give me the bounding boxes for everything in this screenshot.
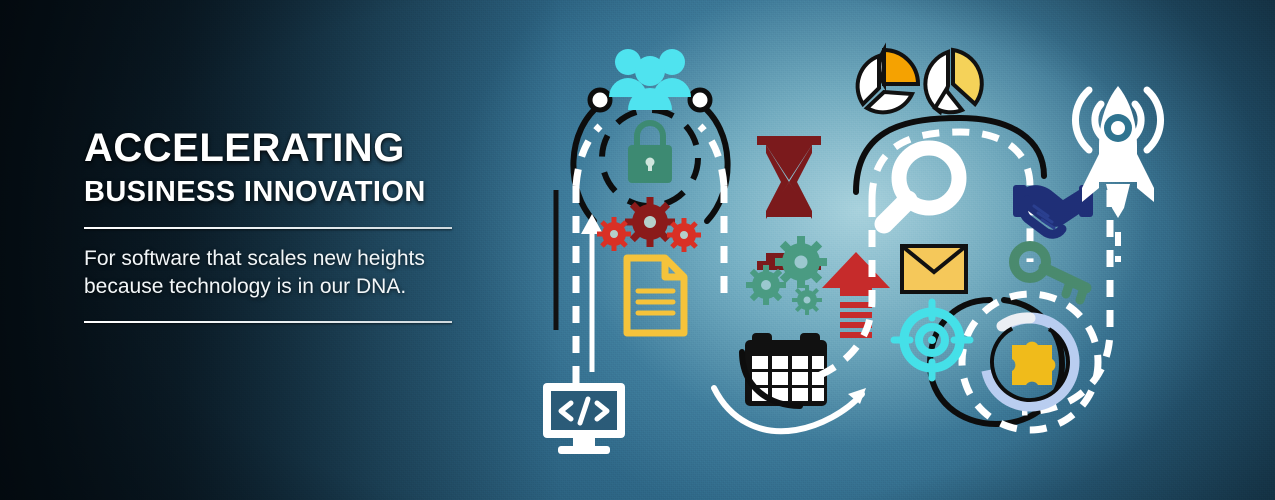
envelope-icon xyxy=(902,246,966,292)
target-icon xyxy=(894,302,970,378)
hero-text-block: ACCELERATING BUSINESS INNOVATION For sof… xyxy=(84,128,464,323)
document-icon xyxy=(627,258,684,333)
hero-banner: ACCELERATING BUSINESS INNOVATION For sof… xyxy=(0,0,1275,500)
pie-chart-yellow-icon xyxy=(925,50,981,112)
gears-green-icon xyxy=(746,236,827,315)
page-title: ACCELERATING xyxy=(84,128,464,168)
magnifier-icon xyxy=(884,148,959,224)
calendar-icon xyxy=(745,333,827,406)
pie-chart-orange-icon xyxy=(858,50,918,112)
node-dot-left xyxy=(590,90,610,110)
divider-bottom xyxy=(84,321,452,323)
rocket-icon xyxy=(1075,86,1160,262)
hero-description: For software that scales new heights bec… xyxy=(84,245,464,301)
divider-top xyxy=(84,227,452,229)
puzzle-piece-icon xyxy=(1012,342,1055,385)
people-group-icon xyxy=(609,49,691,110)
node-dot-right xyxy=(690,90,710,110)
gears-red-icon xyxy=(597,197,701,252)
page-subtitle: BUSINESS INNOVATION xyxy=(84,178,464,207)
growth-arrow-icon xyxy=(822,252,890,338)
upward-arrow-white xyxy=(581,214,603,372)
code-monitor-icon xyxy=(543,383,625,454)
handshake-icon xyxy=(1013,185,1093,234)
padlock-icon xyxy=(628,120,672,183)
